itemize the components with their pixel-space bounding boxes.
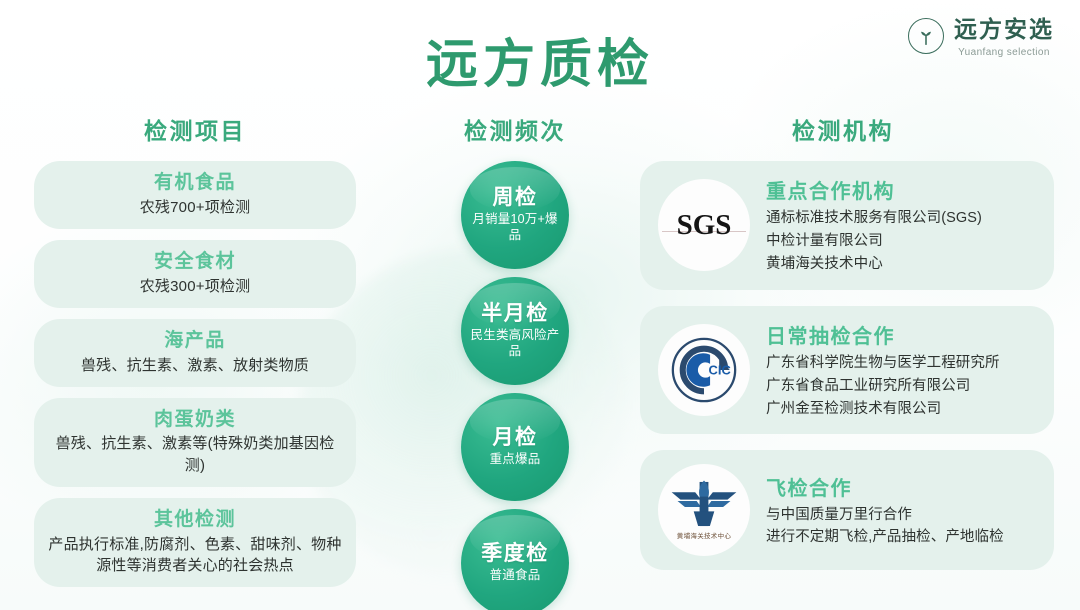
org-card-title: 飞检合作 bbox=[766, 472, 1004, 501]
infographic-page: 远方安选 Yuanfang selection 远方质检 检测项目 有机食品 农… bbox=[0, 0, 1080, 610]
brand-name-en: Yuanfang selection bbox=[958, 47, 1050, 58]
brand-name-cn: 远方安选 bbox=[954, 16, 1054, 42]
column-organizations-heading: 检测机构 bbox=[632, 112, 1054, 146]
frequency-circle: 周检 月销量10万+爆品 bbox=[461, 161, 569, 269]
frequency-circle-desc: 民生类高风险产品 bbox=[461, 328, 569, 359]
org-card-title: 重点合作机构 bbox=[766, 175, 982, 204]
org-card: SGS 重点合作机构 通标标准技术服务有限公司(SGS) 中检计量有限公司 黄埔… bbox=[640, 161, 1054, 290]
frequency-circle-title: 半月检 bbox=[481, 302, 549, 325]
org-card: 黄埔海关技术中心 飞检合作 与中国质量万里行合作 进行不定期飞检,产品抽检、产地… bbox=[640, 450, 1054, 570]
column-items-heading: 检测项目 bbox=[34, 112, 356, 146]
item-card-title: 其他检测 bbox=[48, 507, 342, 533]
org-card-line: 广东省科学院生物与医学工程研究所 bbox=[766, 352, 1000, 375]
column-frequency: 检测频次 周检 月销量10万+爆品 半月检 民生类高风险产品 月检 重点爆品 季… bbox=[390, 112, 640, 610]
item-card-desc: 农残700+项检测 bbox=[48, 197, 342, 218]
column-organizations: 检测机构 SGS 重点合作机构 通标标准技术服务有限公司(SGS) 中检计量有限… bbox=[640, 112, 1080, 610]
org-card-line: 与中国质量万里行合作 bbox=[766, 504, 1004, 527]
huangpu-customs-logo-icon: 黄埔海关技术中心 bbox=[658, 464, 750, 556]
frequency-circle-desc: 重点爆品 bbox=[484, 452, 547, 468]
customs-logo-caption: 黄埔海关技术中心 bbox=[658, 530, 750, 540]
item-card-title: 安全食材 bbox=[48, 249, 342, 275]
item-card: 肉蛋奶类 兽残、抗生素、激素等(特殊奶类加基因检测) bbox=[34, 398, 356, 487]
org-card-body: 飞检合作 与中国质量万里行合作 进行不定期飞检,产品抽检、产地临检 bbox=[766, 472, 1004, 550]
column-frequency-heading: 检测频次 bbox=[390, 112, 640, 146]
org-card-line: 中检计量有限公司 bbox=[766, 230, 982, 253]
item-card-title: 肉蛋奶类 bbox=[48, 407, 342, 433]
frequency-circle-desc: 普通食品 bbox=[484, 568, 547, 584]
org-card-line: 黄埔海关技术中心 bbox=[766, 253, 982, 276]
item-card-desc: 产品执行标准,防腐剂、色素、甜味剂、物种源性等消费者关心的社会热点 bbox=[48, 534, 342, 577]
item-card: 海产品 兽残、抗生素、激素、放射类物质 bbox=[34, 319, 356, 387]
frequency-circle-title: 月检 bbox=[493, 426, 538, 449]
org-card-title: 日常抽检合作 bbox=[766, 320, 1000, 349]
sprout-in-circle-icon bbox=[908, 18, 944, 54]
item-card-desc: 农残300+项检测 bbox=[48, 276, 342, 297]
item-card-title: 海产品 bbox=[48, 328, 342, 354]
org-card-line: 广州金至检测技术有限公司 bbox=[766, 398, 1000, 421]
content-columns: 检测项目 有机食品 农残700+项检测 安全食材 农残300+项检测 海产品 兽… bbox=[0, 112, 1080, 610]
org-card: CIC 日常抽检合作 广东省科学院生物与医学工程研究所 广东省食品工业研究所有限… bbox=[640, 306, 1054, 435]
org-card-line: 广东省食品工业研究所有限公司 bbox=[766, 375, 1000, 398]
svg-text:CIC: CIC bbox=[709, 363, 731, 378]
frequency-circle-stack: 周检 月销量10万+爆品 半月检 民生类高风险产品 月检 重点爆品 季度检 普通… bbox=[390, 161, 640, 610]
frequency-circle-title: 季度检 bbox=[481, 542, 549, 565]
item-card-desc: 兽残、抗生素、激素、放射类物质 bbox=[48, 355, 342, 376]
frequency-circle: 月检 重点爆品 bbox=[461, 393, 569, 501]
cic-logo-icon: CIC bbox=[658, 324, 750, 416]
item-card: 安全食材 农残300+项检测 bbox=[34, 240, 356, 308]
column-items: 检测项目 有机食品 农残700+项检测 安全食材 农残300+项检测 海产品 兽… bbox=[0, 112, 390, 610]
org-card-body: 重点合作机构 通标标准技术服务有限公司(SGS) 中检计量有限公司 黄埔海关技术… bbox=[766, 175, 982, 276]
item-card-title: 有机食品 bbox=[48, 170, 342, 196]
org-card-body: 日常抽检合作 广东省科学院生物与医学工程研究所 广东省食品工业研究所有限公司 广… bbox=[766, 320, 1000, 421]
item-card: 其他检测 产品执行标准,防腐剂、色素、甜味剂、物种源性等消费者关心的社会热点 bbox=[34, 498, 356, 587]
org-card-line: 进行不定期飞检,产品抽检、产地临检 bbox=[766, 526, 1004, 549]
item-card-desc: 兽残、抗生素、激素等(特殊奶类加基因检测) bbox=[48, 433, 342, 476]
sgs-logo-icon: SGS bbox=[658, 179, 750, 271]
frequency-circle: 半月检 民生类高风险产品 bbox=[461, 277, 569, 385]
item-card: 有机食品 农残700+项检测 bbox=[34, 161, 356, 229]
frequency-circle: 季度检 普通食品 bbox=[461, 509, 569, 610]
org-card-line: 通标标准技术服务有限公司(SGS) bbox=[766, 207, 982, 230]
frequency-circle-title: 周检 bbox=[493, 186, 538, 209]
sgs-logo-text: SGS bbox=[677, 209, 732, 242]
frequency-circle-desc: 月销量10万+爆品 bbox=[461, 212, 569, 243]
brand-logo: 远方安选 Yuanfang selection bbox=[908, 16, 1054, 58]
